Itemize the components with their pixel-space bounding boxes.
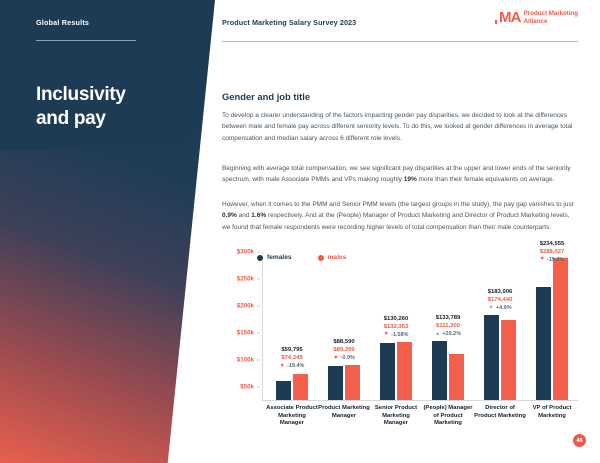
triangle-down-icon: ▼	[333, 356, 338, 362]
pma-logo-mark-text: MA	[499, 9, 521, 26]
sidebar-eyebrow: Global Results	[36, 18, 89, 27]
bar-males[interactable]	[501, 320, 516, 400]
paragraph-1: To develop a clearer understanding of th…	[222, 110, 574, 144]
bar-pair	[276, 374, 308, 401]
bar-females[interactable]	[432, 341, 447, 400]
delta-value: -19.9%	[547, 256, 564, 264]
bar-males[interactable]	[293, 374, 308, 401]
bar-group: $133,789$111,300▲+20.2%	[422, 252, 474, 400]
bar-group: $234,555$288,027▼-19.9%	[526, 252, 578, 400]
chart-x-axis-labels: Associate Product Marketing ManagerProdu…	[266, 405, 578, 449]
triangle-up-icon: ▲	[435, 332, 440, 338]
pma-logo-mark: MA	[499, 10, 521, 25]
triangle-up-icon: ▲	[488, 305, 493, 311]
value-label-females: $133,789	[435, 314, 461, 322]
bar-males[interactable]	[397, 342, 412, 400]
y-axis-tick-mark	[257, 359, 260, 360]
pma-logo-wordmark: Product Marketing Alliance	[524, 10, 578, 25]
bar-pair	[328, 365, 360, 400]
paragraph-3-b: respectively. And at the (People) Manage…	[222, 212, 570, 230]
y-axis-tick-mark	[257, 278, 260, 279]
x-axis-category-label: VP of Product Marketing	[526, 405, 578, 420]
y-axis-tick-label: $150k	[237, 329, 254, 336]
triangle-down-icon: ▼	[280, 364, 285, 370]
bar-value-labels: $130,260$132,353▼-1.58%	[384, 315, 409, 339]
bar-group: $59,795$74,249▼-19.4%	[266, 252, 318, 400]
pma-logo-line1: Product Marketing	[524, 10, 578, 18]
section-title: Gender and job title	[222, 91, 310, 102]
value-label-males: $111,300	[435, 322, 461, 330]
logo-tick-icon	[495, 20, 497, 24]
y-axis-tick-label: $250k	[237, 275, 254, 282]
y-axis-tick-mark	[257, 305, 260, 306]
x-axis-category-label: (People) Manager of Product Marketing	[422, 405, 474, 428]
paragraph-2-stat: 19%	[404, 176, 417, 183]
delta-label: ▲+4.9%	[488, 304, 513, 312]
pma-logo: MA Product Marketing Alliance	[499, 10, 578, 25]
delta-label: ▼-1.58%	[384, 331, 409, 339]
page-title-line1: Inclusivity	[36, 83, 126, 107]
paragraph-2-b: more than their female equivalents on av…	[417, 176, 555, 183]
y-axis-tick-label: $50k	[240, 383, 254, 390]
bar-males[interactable]	[553, 258, 568, 400]
page-title-line2: and pay	[36, 107, 126, 131]
paragraph-3-a: However, when it comes to the PMM and Se…	[222, 201, 574, 208]
delta-label: ▼-19.4%	[280, 362, 305, 370]
delta-value: +20.2%	[442, 330, 461, 338]
y-axis-tick-mark	[257, 386, 260, 387]
delta-label: ▲+20.2%	[435, 330, 461, 338]
paragraph-3-stat2: 1.6%	[251, 212, 266, 219]
value-label-females: $130,260	[384, 315, 409, 323]
bar-males[interactable]	[345, 365, 360, 400]
header-divider	[222, 41, 578, 42]
page-title: Inclusivity and pay	[36, 83, 126, 131]
bar-males[interactable]	[449, 354, 464, 400]
delta-value: -19.4%	[287, 362, 304, 370]
y-axis-tick-mark	[257, 332, 260, 333]
bar-group: $88,590$89,399▼-0.9%	[318, 252, 370, 400]
bar-value-labels: $133,789$111,300▲+20.2%	[435, 314, 461, 338]
legend-dot-icon	[257, 255, 263, 261]
y-axis-tick-label: $100k	[237, 356, 254, 363]
triangle-down-icon: ▼	[384, 332, 389, 338]
pma-logo-line2: Alliance	[524, 18, 578, 26]
survey-title: Product Marketing Salary Survey 2023	[222, 18, 356, 27]
chart-plot-area: $59,795$74,249▼-19.4%$88,590$89,399▼-0.9…	[266, 252, 578, 400]
value-label-females: $59,795	[280, 346, 305, 354]
chart-y-axis: $300k$250k$200k$150k$100k$50k	[222, 252, 262, 400]
bar-value-labels: $88,590$89,399▼-0.9%	[333, 338, 355, 362]
x-axis-category-label: Product Marketing Manager	[318, 405, 370, 420]
x-axis-category-label: Associate Product Marketing Manager	[266, 405, 318, 428]
value-label-males: $132,353	[384, 323, 409, 331]
delta-value: +4.9%	[496, 304, 512, 312]
page-number-badge: 46	[573, 434, 586, 447]
bar-females[interactable]	[536, 287, 551, 400]
bar-group: $183,006$174,440▲+4.9%	[474, 252, 526, 400]
chart-axis-line	[262, 252, 263, 400]
bar-pair	[380, 342, 412, 400]
value-label-males: $174,440	[488, 296, 513, 304]
delta-value: -0.9%	[341, 354, 355, 362]
paragraph-3-stat1: 0.9%	[222, 212, 237, 219]
paragraph-2: Beginning with average total compensatio…	[222, 163, 574, 186]
bar-females[interactable]	[380, 343, 395, 400]
bar-females[interactable]	[484, 315, 499, 400]
delta-label: ▼-0.9%	[333, 354, 355, 362]
value-label-females: $183,006	[488, 288, 513, 296]
delta-label: ▼-19.9%	[540, 256, 565, 264]
paragraph-3-mid: and	[237, 212, 251, 219]
value-label-males: $288,027	[540, 248, 565, 256]
bar-group: $130,260$132,353▼-1.58%	[370, 252, 422, 400]
bar-value-labels: $183,006$174,440▲+4.9%	[488, 288, 513, 312]
gender-pay-bar-chart: $300k$250k$200k$150k$100k$50k femalesmal…	[222, 252, 578, 452]
bar-value-labels: $59,795$74,249▼-19.4%	[280, 346, 305, 370]
paragraph-3: However, when it comes to the PMM and Se…	[222, 199, 574, 233]
y-axis-tick-label: $300k	[237, 249, 254, 256]
bar-pair	[432, 341, 464, 400]
x-axis-category-label: Senior Product Marketing Manager	[370, 405, 422, 428]
slide-page: Global Results Inclusivity and pay Produ…	[0, 0, 600, 463]
sidebar-divider	[36, 40, 136, 41]
x-axis-category-label: Director of Product Marketing	[474, 405, 526, 420]
value-label-males: $74,249	[280, 354, 305, 362]
value-label-males: $89,399	[333, 346, 355, 354]
y-axis-tick-label: $200k	[237, 302, 254, 309]
bar-value-labels: $234,555$288,027▼-19.9%	[540, 240, 565, 264]
chart-baseline	[262, 400, 578, 401]
value-label-females: $234,555	[540, 240, 565, 248]
bar-females[interactable]	[328, 366, 343, 400]
value-label-females: $88,590	[333, 338, 355, 346]
triangle-down-icon: ▼	[540, 257, 545, 263]
y-axis-tick-mark	[257, 252, 260, 253]
bar-pair	[536, 258, 568, 400]
bar-pair	[484, 315, 516, 400]
delta-value: -1.58%	[391, 331, 408, 339]
bar-females[interactable]	[276, 381, 291, 400]
